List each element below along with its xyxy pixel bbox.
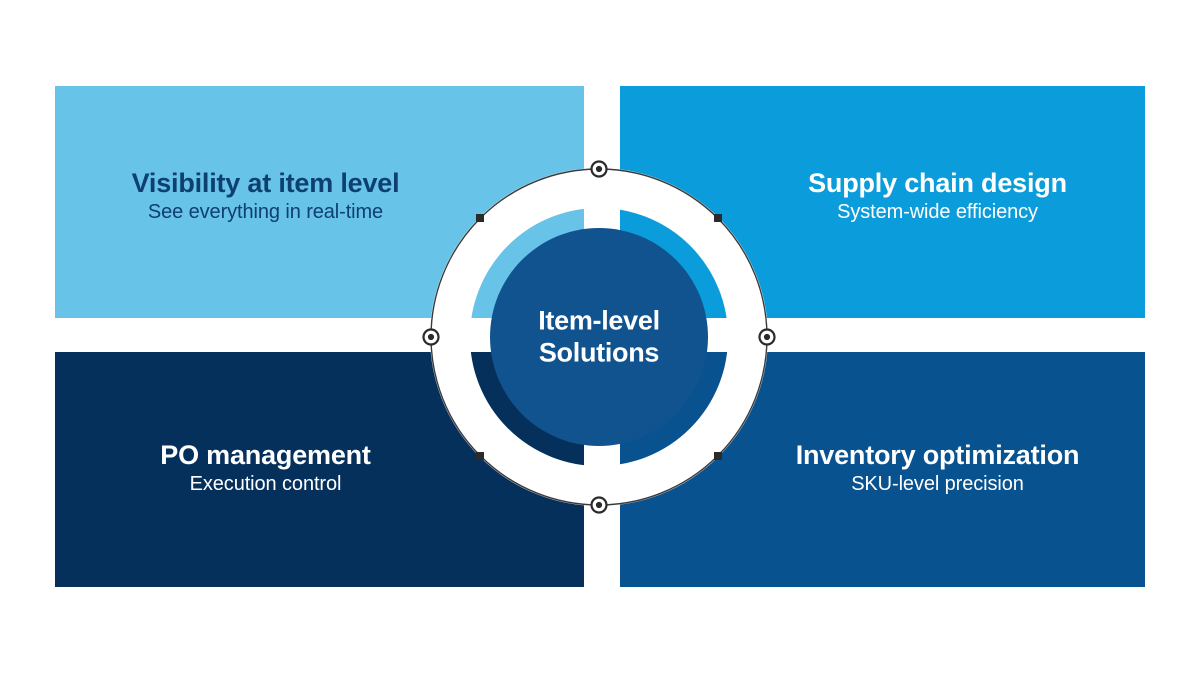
quadrant-supply-chain-design[interactable]: Supply chain design System-wide efficien…: [620, 86, 1145, 318]
marker-east-ring: [760, 330, 775, 345]
quadrant-po-management-title: PO management: [160, 440, 370, 470]
quadrant-visibility-title: Visibility at item level: [132, 168, 400, 198]
marker-west-ring: [424, 330, 439, 345]
marker-north-ring: [592, 162, 607, 177]
quadrant-visibility[interactable]: Visibility at item level See everything …: [55, 86, 584, 318]
marker-east-dot: [764, 334, 770, 340]
marker-north[interactable]: [592, 162, 607, 177]
quadrant-supply-chain-design-title: Supply chain design: [808, 168, 1067, 198]
marker-north-dot: [596, 166, 602, 172]
quadrant-po-management-subtitle: Execution control: [190, 472, 342, 496]
quadrant-inventory-optimization[interactable]: Inventory optimization SKU-level precisi…: [620, 352, 1145, 587]
quadrant-visibility-subtitle: See everything in real-time: [148, 200, 383, 224]
marker-west-dot: [428, 334, 434, 340]
marker-south-ring: [592, 498, 607, 513]
quadrant-inventory-optimization-subtitle: SKU-level precision: [851, 472, 1024, 496]
quadrant-po-management[interactable]: PO management Execution control: [55, 352, 584, 587]
diagram-canvas: Visibility at item level See everything …: [0, 0, 1200, 675]
quadrant-supply-chain-design-subtitle: System-wide efficiency: [837, 200, 1038, 224]
marker-west[interactable]: [424, 330, 439, 345]
quadrant-inventory-optimization-title: Inventory optimization: [796, 440, 1080, 470]
marker-south[interactable]: [592, 498, 607, 513]
marker-south-dot: [596, 502, 602, 508]
marker-east[interactable]: [760, 330, 775, 345]
